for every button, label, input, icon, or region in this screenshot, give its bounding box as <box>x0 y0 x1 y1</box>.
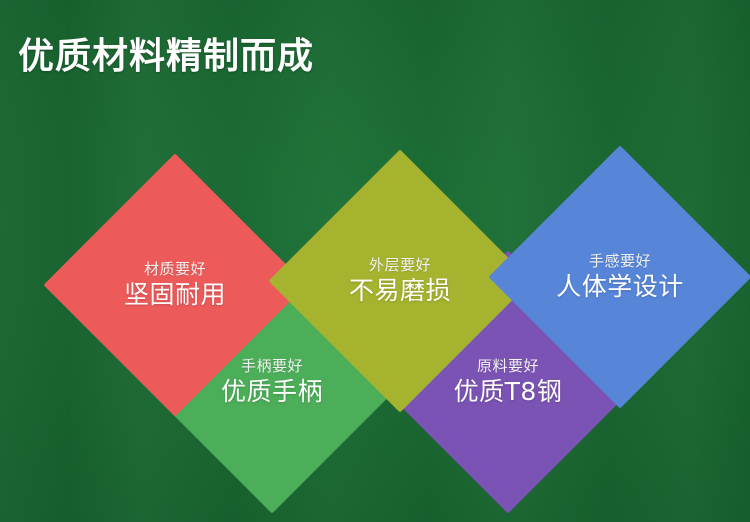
diamond-material-subtitle: 材质要好 <box>144 260 206 279</box>
diamond-material-title: 坚固耐用 <box>124 280 226 310</box>
diamond-ergonomics[interactable]: 手感要好 人体学设计 <box>488 145 750 408</box>
diamond-ergonomics-subtitle: 手感要好 <box>589 252 651 271</box>
diamond-ergonomics-title: 人体学设计 <box>556 272 684 302</box>
diamond-steel-title: 优质T8钢 <box>454 377 563 407</box>
diamond-handle-title: 优质手柄 <box>221 377 323 407</box>
diamond-grid: 手柄要好 优质手柄 原料要好 优质T8钢 材质要好 坚固耐用 外层要好 不易磨损… <box>0 0 750 522</box>
diamond-material[interactable]: 材质要好 坚固耐用 <box>43 153 306 416</box>
diamond-coating-subtitle: 外层要好 <box>369 256 431 275</box>
diamond-coating-title: 不易磨损 <box>349 276 451 306</box>
